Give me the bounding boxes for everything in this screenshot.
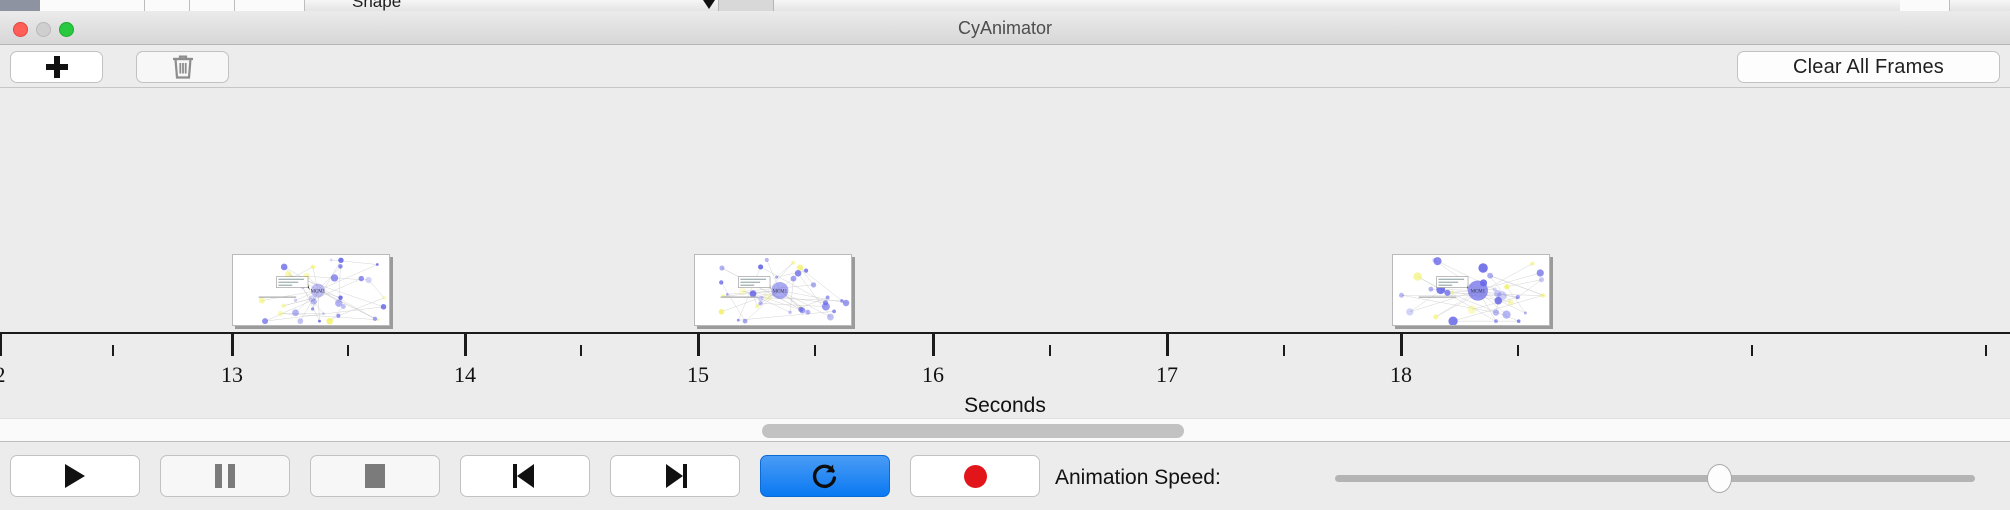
svg-text:MCM1: MCM1 [311,289,326,294]
background-window-strip: Shape [0,0,2010,11]
background-window-label: Shape [352,0,401,11]
tick-major [1166,334,1169,356]
animation-speed-label: Animation Speed: [1055,466,1221,490]
tick-label: 14 [454,362,476,388]
tick-minor [1751,345,1753,356]
clear-all-frames-button[interactable]: Clear All Frames [1737,51,2000,83]
loop-icon [810,461,840,491]
play-button[interactable] [10,455,140,497]
skip-forward-icon [663,464,687,488]
tick-major [1400,334,1403,356]
timeline-frame[interactable]: MCM1 [1392,254,1550,326]
tick-minor [1049,345,1051,356]
cyanimator-window: Shape CyAnimator Clear All Frames [0,0,2010,510]
toolbar: Clear All Frames [0,45,2010,88]
playback-controls: Animation Speed: [0,443,2010,510]
tick-minor [580,345,582,356]
frame-thumbnail: MCM1 [1393,255,1549,326]
axis-title: Seconds [0,394,2010,418]
tick-minor [1517,345,1519,356]
timeline-ruler [0,332,2010,334]
background-tab [190,0,235,11]
background-box [718,0,774,11]
add-frame-button[interactable] [10,51,103,83]
tick-major [0,334,2,356]
svg-text:MCM1: MCM1 [773,289,788,294]
tick-major [697,334,700,356]
tick-minor [1283,345,1285,356]
tick-label: 16 [922,362,944,388]
tick-label: 15 [687,362,709,388]
stop-icon [365,464,385,488]
window-title: CyAnimator [0,18,2010,39]
pause-button[interactable] [160,455,290,497]
slider-thumb[interactable] [1707,464,1732,493]
skip-back-icon [513,464,537,488]
tick-label: 2 [0,362,6,388]
tick-major [464,334,467,356]
background-tab [40,0,145,11]
background-sidebar [0,0,40,11]
frames-layer: MCM1MCM1MCM1 [0,88,2010,328]
background-tab [235,0,305,11]
scrollbar-thumb[interactable] [762,424,1184,438]
tick-minor [112,345,114,356]
skip-forward-button[interactable] [610,455,740,497]
tick-label: 17 [1156,362,1178,388]
tick-minor [1985,345,1987,356]
tick-minor [347,345,349,356]
loop-button[interactable] [760,455,890,497]
timeline-frame[interactable]: MCM1 [232,254,390,326]
tick-major [932,334,935,356]
background-caret-icon [703,0,715,9]
stop-button[interactable] [310,455,440,497]
tick-minor [814,345,816,356]
tick-label: 13 [221,362,243,388]
svg-text:MCM1: MCM1 [1471,289,1486,294]
frame-thumbnail: MCM1 [695,255,851,326]
background-tab [145,0,190,11]
pause-icon [215,464,235,488]
play-icon [65,464,85,488]
background-tab [1900,0,1950,11]
trash-icon [171,54,195,80]
frame-thumbnail: MCM1 [233,255,389,326]
delete-frame-button[interactable] [136,51,229,83]
timeline-scrollbar[interactable] [0,418,2010,442]
timeline-frame[interactable]: MCM1 [694,254,852,326]
plus-icon [46,56,68,78]
record-button[interactable] [910,455,1040,497]
record-icon [964,465,987,488]
tick-label: 18 [1390,362,1412,388]
tick-major [231,334,234,356]
skip-back-button[interactable] [460,455,590,497]
titlebar: CyAnimator [0,11,2010,45]
timeline-panel[interactable]: MCM1MCM1MCM1 2131415161718 Seconds [0,88,2010,418]
animation-speed-slider[interactable] [1335,475,1975,482]
